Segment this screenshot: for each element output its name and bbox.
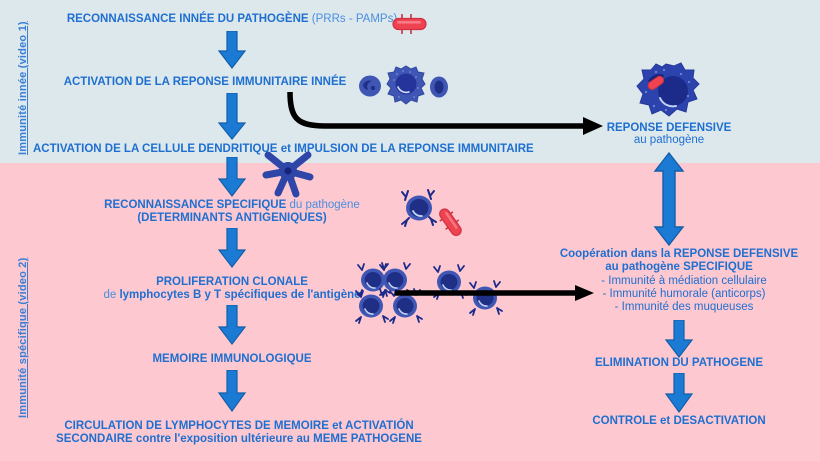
clonal-proliferation-strong: lymphocytes B y T spécifiques de l'antig… <box>119 289 360 301</box>
memory-circulation-line2: SECONDAIRE contre l'exposition ultérieur… <box>56 433 422 446</box>
cooperation-bullet-humoral: - Immunité humorale (anticorps) <box>603 288 766 301</box>
defensive-response-subtitle: au pathogène <box>634 134 704 147</box>
innate-panel-side-label: Immunité innée (video 1) <box>17 21 29 155</box>
arrow-memory-to-circulation <box>217 370 247 412</box>
clonal-proliferation-line2: de lymphocytes B y T spécifiques de l'an… <box>103 289 360 302</box>
memory-circulation-strong: CIRCULATION DE LYMPHOCYTES DE MEMOIRE <box>64 420 329 432</box>
innate-step3-strong: ACTIVATION DE LA CELLULE DENDRITIQUE <box>33 143 277 155</box>
arrow-innate-to-specific <box>217 157 247 197</box>
memory-circulation-light: et ACTIVATIÓN <box>332 420 414 432</box>
control-deactivation-text: CONTROLE et DESACTIVATION <box>592 415 765 428</box>
arrow-elimination-to-control <box>664 373 694 413</box>
cooperation-bullet-mucosal: - Immunité des muqueuses <box>615 301 754 314</box>
arrow-innate-to-defensive-response <box>285 92 605 137</box>
arrow-recognition-to-proliferation <box>217 228 247 268</box>
cooperation-line2: au pathogène SPECIFIQUE <box>605 261 753 274</box>
arrow-innate-step1-to-step2 <box>217 31 247 69</box>
lymphocyte-cluster <box>355 262 515 340</box>
specific-recognition-line2: (DETERMINANTS ANTIGENIQUES) <box>137 212 326 225</box>
innate-step1-text: RECONNAISSANCE INNÉE DU PATHOGÈNE (PRRs … <box>67 13 397 26</box>
immunological-memory-text: MEMOIRE IMMUNOLOGIQUE <box>152 353 311 366</box>
specific-panel-side-label: Immunité spécifique (video 2) <box>17 258 29 418</box>
red-bacterium-icon <box>391 13 429 35</box>
immune-response-diagram: Immunité innée (video 1) Immunité spécif… <box>0 0 820 461</box>
arrow-proliferation-to-memory <box>217 305 247 345</box>
innate-step3-mid: et IMPULSION DE LA REPONSE IMMUNITAIRE <box>281 143 534 155</box>
innate-step1-light: (PRRs - PAMPs) <box>312 13 397 25</box>
arrow-innate-step2-to-step3 <box>217 93 247 140</box>
innate-step1-strong: RECONNAISSANCE INNÉE DU PATHOGÈNE <box>67 13 309 25</box>
specific-recognition-strong: RECONNAISSANCE SPECIFIQUE <box>104 199 286 211</box>
specific-recognition-light: du pathogène <box>289 199 359 211</box>
pathogen-elimination-text: ELIMINATION DU PATHOGENE <box>595 357 763 370</box>
memory-circulation-line1: CIRCULATION DE LYMPHOCYTES DE MEMOIRE et… <box>64 420 413 433</box>
clonal-proliferation-light: de <box>103 289 116 301</box>
macrophage-engulfing-pathogen-icon <box>636 62 700 118</box>
cooperation-line1: Coopération dans la REPONSE DEFENSIVE <box>560 248 798 261</box>
red-bacterium-icon <box>433 205 469 241</box>
cooperation-bullet-cellular: - Immunité à médiation cellulaire <box>601 275 767 288</box>
clonal-proliferation-line1: PROLIFERATION CLONALE <box>156 276 308 289</box>
dendritic-cell-icon <box>262 149 314 197</box>
arrow-cooperation-to-elimination <box>664 320 694 358</box>
innate-step2-text: ACTIVATION DE LA REPONSE IMMUNITAIRE INN… <box>64 76 347 89</box>
specific-recognition-line1: RECONNAISSANCE SPECIFIQUE du pathogène <box>104 199 360 212</box>
arrow-defensive-response-bidirectional <box>652 152 686 246</box>
arrow-proliferation-to-cooperation <box>395 285 595 301</box>
